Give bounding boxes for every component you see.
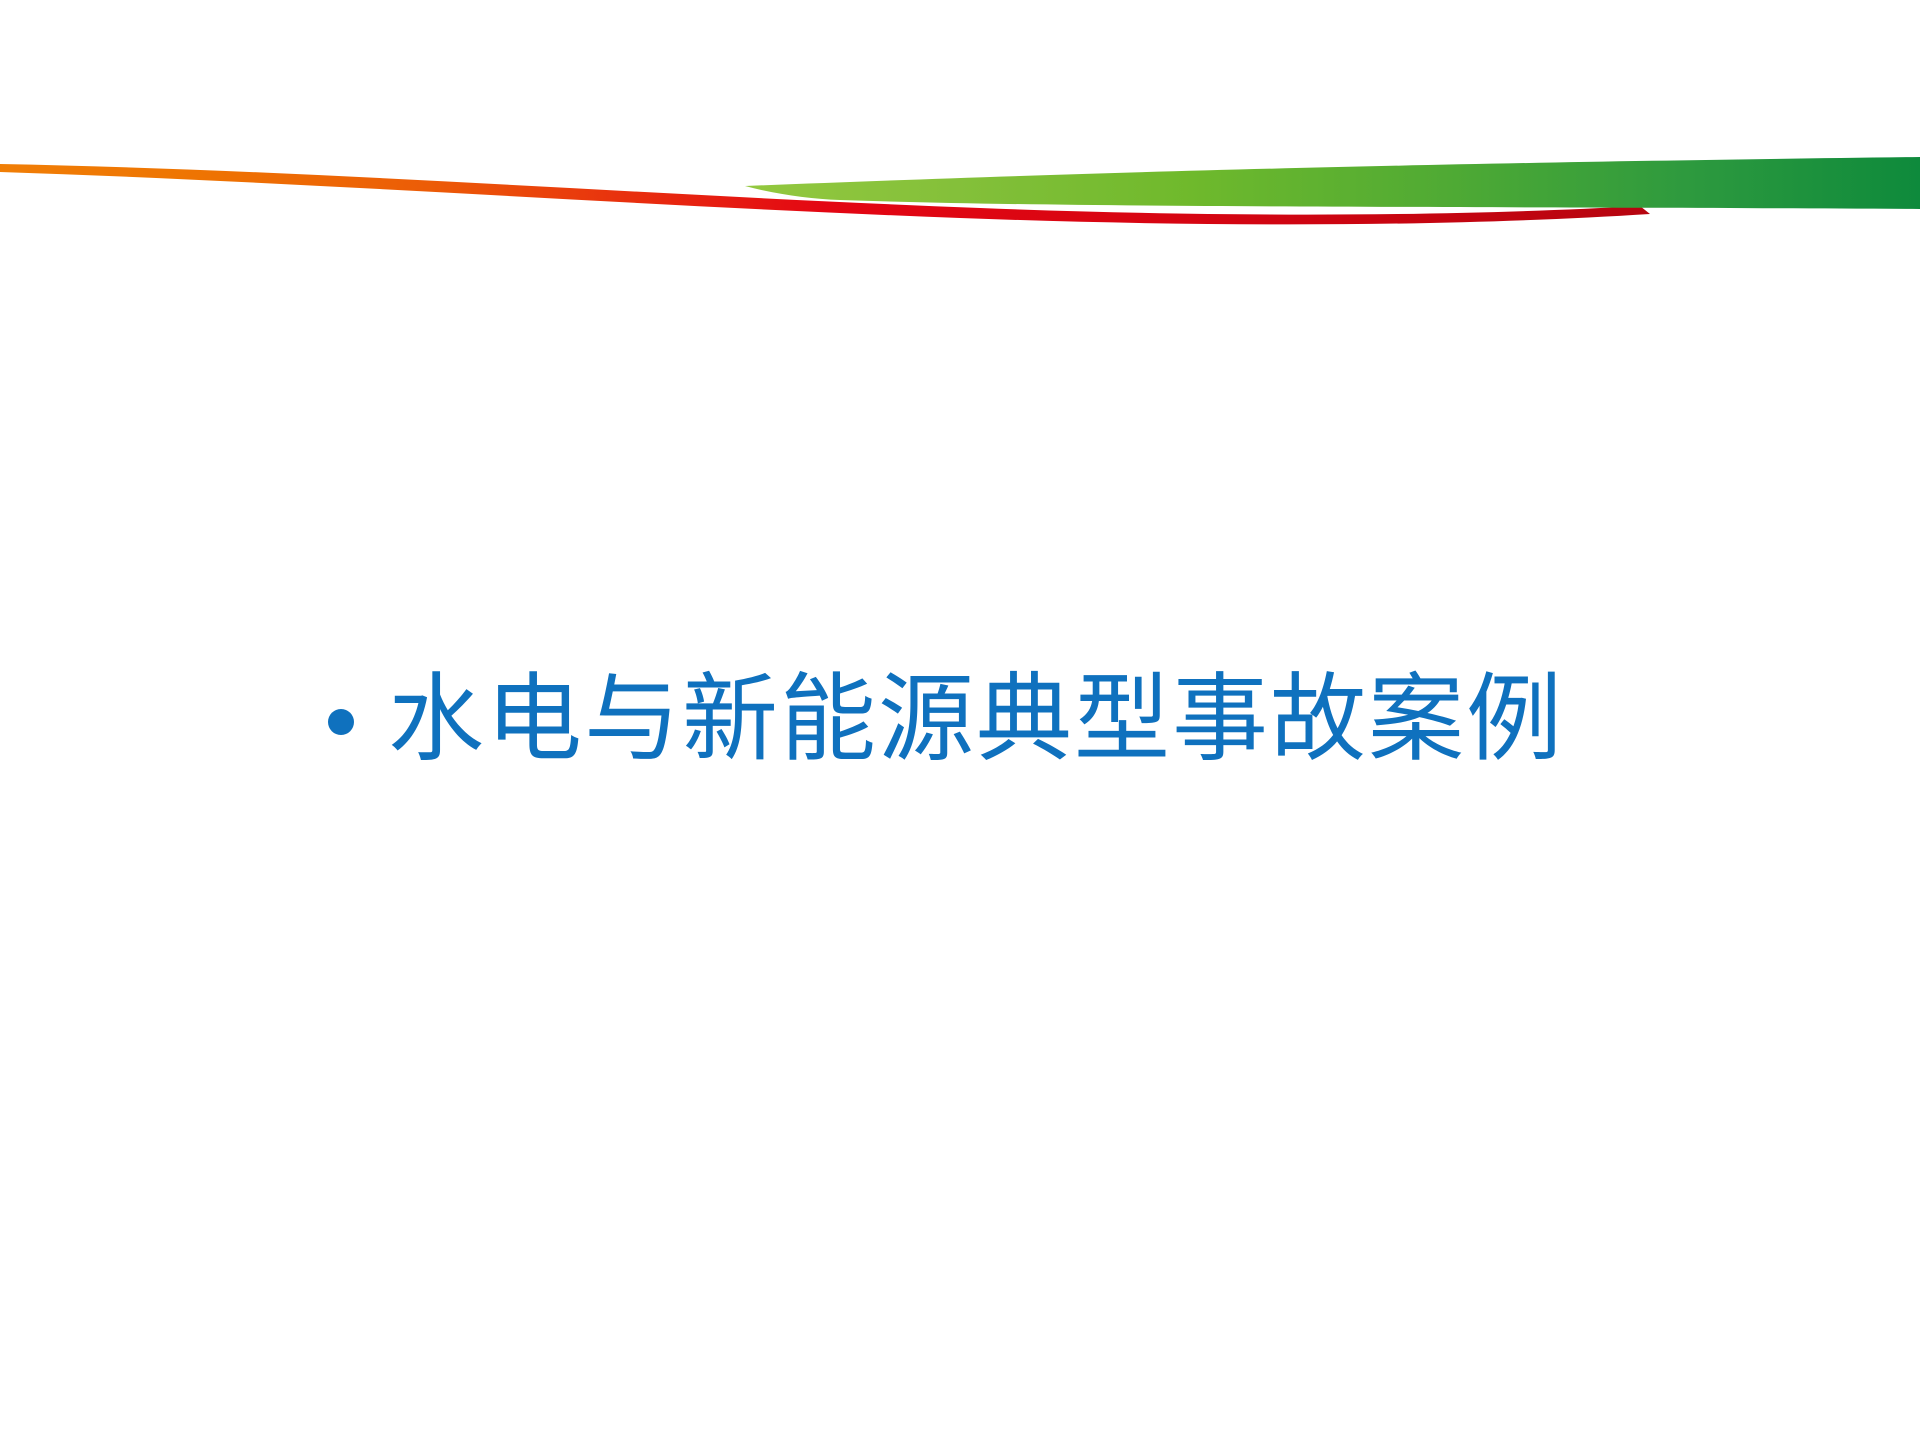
bullet-list: 水电与新能源典型事故案例 xyxy=(210,665,1710,775)
bullet-item-label: 水电与新能源典型事故案例 xyxy=(388,665,1564,775)
slide-content-body: 水电与新能源典型事故案例 xyxy=(0,0,1920,1440)
round-bullet-icon xyxy=(328,709,354,735)
list-item: 水电与新能源典型事故案例 xyxy=(210,665,1710,775)
presentation-slide: 水电与新能源典型事故案例 xyxy=(0,0,1920,1440)
